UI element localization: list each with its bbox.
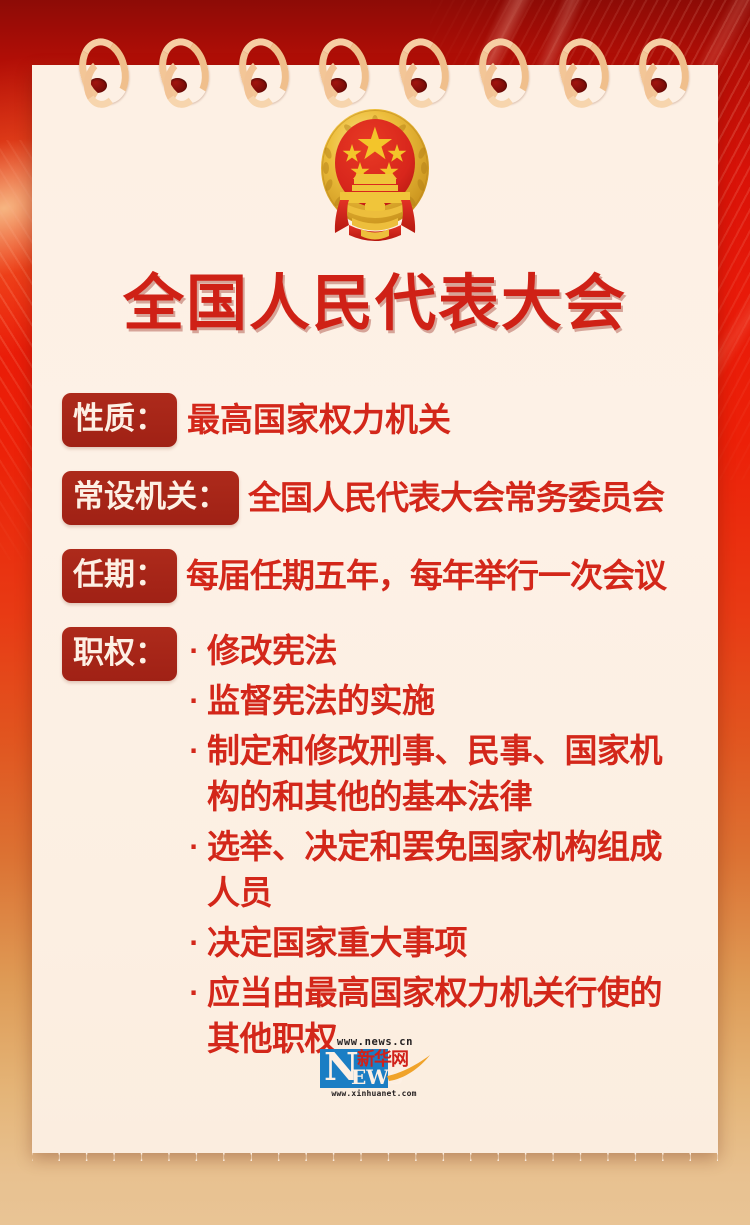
bullet-icon: · xyxy=(189,628,207,674)
list-item: · 决定国家重大事项 xyxy=(189,920,692,966)
china-national-emblem-icon xyxy=(304,105,446,245)
emblem-container xyxy=(0,105,750,245)
spiral-ring-icon xyxy=(160,38,194,94)
value-nature: 最高国家权力机关 xyxy=(187,393,451,447)
spiral-ring-icon xyxy=(240,38,274,94)
bullet-icon: · xyxy=(189,824,207,916)
logo-url-bottom: www.xinhuanet.com xyxy=(318,1089,430,1098)
bullet-icon: · xyxy=(189,728,207,820)
bullet-icon: · xyxy=(189,678,207,724)
spiral-ring-icon xyxy=(480,38,514,94)
powers-list: · 修改宪法 · 监督宪法的实施 · 制定和修改刑事、民事、国家机构的和其他的基… xyxy=(189,627,692,1066)
row-standing-body: 常设机关： 全国人民代表大会常务委员会 xyxy=(62,471,692,525)
page-title: 全国人民代表大会 xyxy=(0,268,750,340)
spiral-ring-icon xyxy=(640,38,674,94)
badge-term: 任期： xyxy=(62,549,177,603)
row-powers: 职权： · 修改宪法 · 监督宪法的实施 · 制定和修改刑事、民事、国家机构的和… xyxy=(62,627,692,1066)
power-text: 选举、决定和罢免国家机构组成人员 xyxy=(207,824,692,916)
row-term: 任期： 每届任期五年，每年举行一次会议 xyxy=(62,549,692,603)
list-item: · 选举、决定和罢免国家机构组成人员 xyxy=(189,824,692,916)
row-nature: 性质： 最高国家权力机关 xyxy=(62,393,692,447)
power-text: 修改宪法 xyxy=(207,628,692,674)
list-item: · 修改宪法 xyxy=(189,628,692,674)
spiral-ring-icon xyxy=(400,38,434,94)
list-item: · 制定和修改刑事、民事、国家机构的和其他的基本法律 xyxy=(189,728,692,820)
value-standing-body: 全国人民代表大会常务委员会 xyxy=(248,471,664,525)
bullet-icon: · xyxy=(189,920,207,966)
badge-standing-body: 常设机关： xyxy=(62,471,239,525)
list-item: · 监督宪法的实施 xyxy=(189,678,692,724)
info-rows: 性质： 最高国家权力机关 常设机关： 全国人民代表大会常务委员会 任期： 每届任… xyxy=(62,393,692,1066)
power-text: 决定国家重大事项 xyxy=(207,920,692,966)
value-term: 每届任期五年，每年举行一次会议 xyxy=(186,549,666,603)
badge-nature: 性质： xyxy=(62,393,177,447)
spiral-ring-icon xyxy=(560,38,594,94)
logo-swoosh-icon xyxy=(386,1054,432,1082)
power-text: 监督宪法的实施 xyxy=(207,678,692,724)
xinhua-logo: www.news.cn N EWS 新华网 www.xinhuanet.com xyxy=(316,1036,434,1102)
spiral-ring-icon xyxy=(320,38,354,94)
xinhua-logo-container: www.news.cn N EWS 新华网 www.xinhuanet.com xyxy=(0,1036,750,1102)
power-text: 制定和修改刑事、民事、国家机构的和其他的基本法律 xyxy=(207,728,692,820)
spiral-ring-icon xyxy=(80,38,114,94)
spiral-binding xyxy=(32,0,718,100)
notepad-scalloped-edge xyxy=(32,1121,718,1161)
badge-powers: 职权： xyxy=(62,627,177,681)
